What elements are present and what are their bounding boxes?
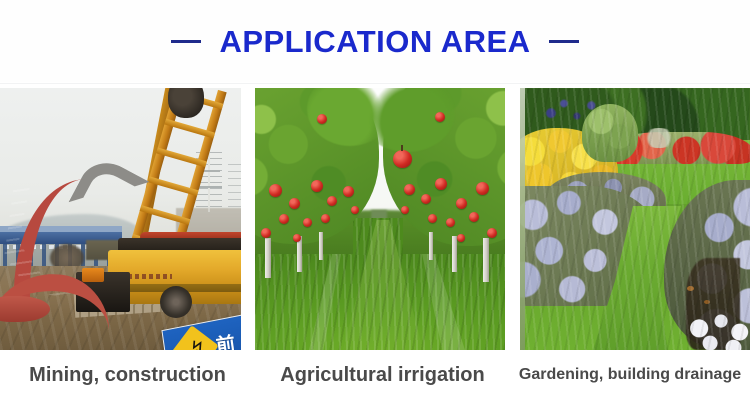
apple bbox=[401, 206, 409, 214]
panel-agricultural-irrigation[interactable] bbox=[255, 88, 505, 350]
apple bbox=[446, 218, 455, 227]
caption-mining-construction: Mining, construction bbox=[0, 358, 255, 392]
apple bbox=[476, 182, 489, 195]
header-divider bbox=[0, 83, 750, 84]
panel-gap bbox=[241, 88, 255, 350]
panel-mining-construction[interactable]: ↯ 前 右 bbox=[0, 88, 241, 350]
power-pylon-secondary-icon bbox=[228, 164, 241, 210]
scene-apple-orchard bbox=[255, 88, 505, 350]
apple bbox=[404, 184, 415, 195]
title-dash-right-icon bbox=[549, 40, 579, 43]
apple bbox=[469, 212, 479, 222]
tree-trunk bbox=[483, 238, 489, 282]
panel-gardening-building-drainage[interactable] bbox=[520, 88, 750, 350]
winding-road-icon: ↯ bbox=[189, 337, 203, 350]
caption-agricultural-irrigation: Agricultural irrigation bbox=[255, 358, 510, 392]
scene-garden bbox=[520, 88, 750, 350]
apple bbox=[261, 228, 271, 238]
caption-row: Mining, construction Agricultural irriga… bbox=[0, 358, 750, 404]
road-sign-text-line1: 前 bbox=[214, 329, 237, 350]
application-area-gallery: ↯ 前 右 bbox=[0, 88, 750, 350]
title-dash-left-icon bbox=[171, 40, 201, 43]
apple bbox=[293, 234, 301, 242]
apple bbox=[457, 234, 465, 242]
apple bbox=[327, 196, 337, 206]
caption-gardening-building-drainage: Gardening, building drainage bbox=[510, 358, 750, 392]
apple bbox=[303, 218, 312, 227]
apple bbox=[351, 206, 359, 214]
apple bbox=[487, 228, 497, 238]
apple bbox=[435, 178, 447, 190]
apple bbox=[435, 112, 445, 122]
truck-lettering bbox=[128, 274, 172, 279]
apple bbox=[428, 214, 437, 223]
tree-trunk bbox=[319, 232, 323, 260]
tree-trunk bbox=[429, 232, 433, 260]
panel-left-edge bbox=[520, 88, 525, 350]
apple bbox=[289, 198, 300, 209]
hero-apple bbox=[393, 150, 412, 168]
apple bbox=[317, 114, 327, 124]
tree-trunk bbox=[265, 238, 271, 278]
truck-wheel bbox=[160, 286, 192, 318]
apple bbox=[279, 214, 289, 224]
apple bbox=[269, 184, 282, 197]
page-header: APPLICATION AREA bbox=[0, 0, 750, 82]
lawn-texture bbox=[520, 88, 750, 350]
apple bbox=[321, 214, 330, 223]
panel-gap bbox=[505, 88, 520, 350]
apple bbox=[311, 180, 323, 192]
apple bbox=[343, 186, 354, 197]
apple bbox=[421, 194, 431, 204]
page-title: APPLICATION AREA bbox=[219, 26, 530, 57]
scene-mining-construction: ↯ 前 右 bbox=[0, 88, 241, 350]
apple bbox=[456, 198, 467, 209]
tree-trunk bbox=[452, 236, 457, 272]
